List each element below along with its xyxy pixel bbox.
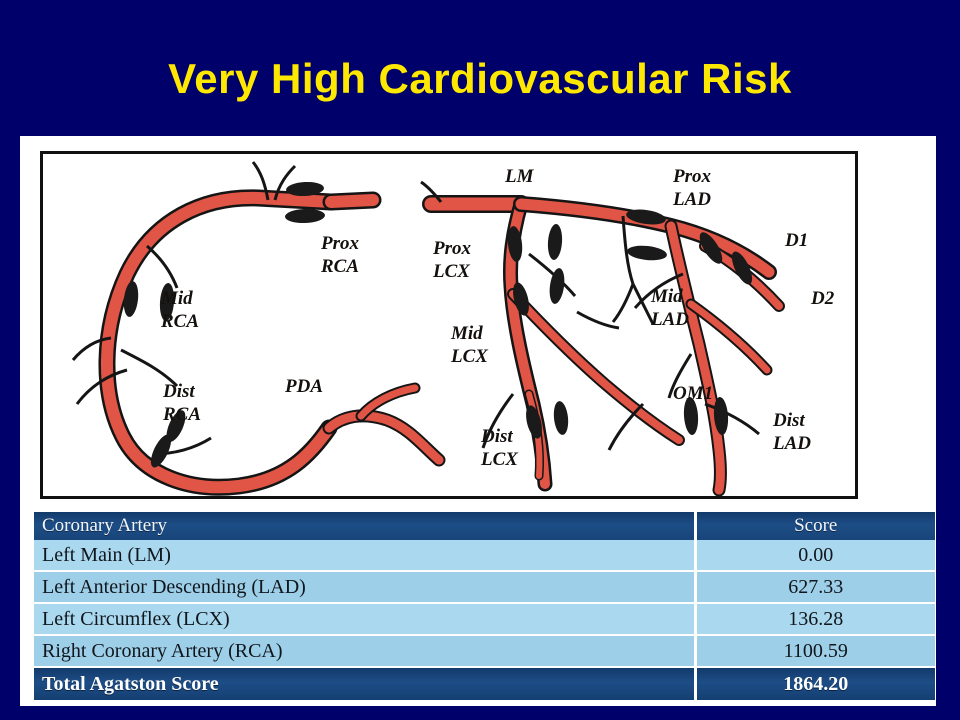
diagram-label-dist-lcx: Dist LCX [480,426,519,470]
svg-text:LCX: LCX [432,261,471,282]
page-title: Very High Cardiovascular Risk [0,58,960,100]
agatston-score-table: Coronary Artery Score Left Main (LM) 0.0… [34,512,935,700]
table-row: Left Main (LM) 0.00 [34,540,935,571]
diagram-label-d1: D1 [784,230,808,251]
svg-text:LM: LM [504,166,535,187]
table-row: Left Anterior Descending (LAD) 627.33 [34,571,935,603]
slide-title-bar: Very High Cardiovascular Risk [0,58,960,100]
svg-text:LAD: LAD [772,433,811,454]
svg-text:D1: D1 [784,230,808,251]
svg-text:LAD: LAD [650,309,689,330]
coronary-diagram-box: Prox RCA Mid RCA Dist RCA PDA LM [40,151,858,499]
cell-artery-score: 1100.59 [695,635,935,667]
diagram-label-mid-lcx: Mid LCX [450,323,489,367]
diagram-label-om1: OM1 [673,383,713,404]
diagram-label-prox-rca: Prox RCA [320,233,360,277]
cell-total-score: 1864.20 [695,667,935,700]
cell-artery-score: 136.28 [695,603,935,635]
table-row: Left Circumflex (LCX) 136.28 [34,603,935,635]
diagram-label-prox-lad: Prox LAD [672,166,712,210]
svg-text:LCX: LCX [450,346,489,367]
svg-text:RCA: RCA [162,404,201,425]
diagram-label-prox-lcx: Prox LCX [432,238,472,282]
column-header-score: Score [695,512,935,540]
svg-text:RCA: RCA [160,311,199,332]
cell-artery-name: Left Main (LM) [34,540,695,571]
svg-text:Mid: Mid [450,323,483,344]
svg-text:Prox: Prox [432,238,472,259]
svg-text:PDA: PDA [284,376,323,397]
svg-text:LCX: LCX [480,449,519,470]
cell-artery-name: Right Coronary Artery (RCA) [34,635,695,667]
content-panel: Prox RCA Mid RCA Dist RCA PDA LM [20,136,936,706]
svg-text:RCA: RCA [320,256,359,277]
svg-text:Prox: Prox [320,233,360,254]
cell-artery-name: Left Circumflex (LCX) [34,603,695,635]
column-header-artery: Coronary Artery [34,512,695,540]
cell-artery-name: Left Anterior Descending (LAD) [34,571,695,603]
svg-text:Dist: Dist [162,381,195,402]
svg-text:Prox: Prox [672,166,712,187]
diagram-label-pda: PDA [284,376,323,397]
svg-text:D2: D2 [810,288,835,309]
diagram-label-dist-lad: Dist LAD [772,410,811,454]
cell-artery-score: 0.00 [695,540,935,571]
svg-text:Mid: Mid [650,286,683,307]
diagram-label-d2: D2 [810,288,835,309]
cell-total-label: Total Agatston Score [34,667,695,700]
svg-text:LAD: LAD [672,189,711,210]
coronary-artery-diagram: Prox RCA Mid RCA Dist RCA PDA LM [43,154,855,496]
table-row: Right Coronary Artery (RCA) 1100.59 [34,635,935,667]
diagram-label-dist-rca: Dist RCA [162,381,201,425]
svg-text:Mid: Mid [160,288,193,309]
cell-artery-score: 627.33 [695,571,935,603]
table-header-row: Coronary Artery Score [34,512,935,540]
slide-root: Very High Cardiovascular Risk [0,0,960,720]
table-total-row: Total Agatston Score 1864.20 [34,667,935,700]
diagram-label-lm: LM [504,166,535,187]
svg-text:Dist: Dist [480,426,513,447]
svg-text:OM1: OM1 [673,383,713,404]
rca-tree [73,162,439,487]
svg-text:Dist: Dist [772,410,805,431]
